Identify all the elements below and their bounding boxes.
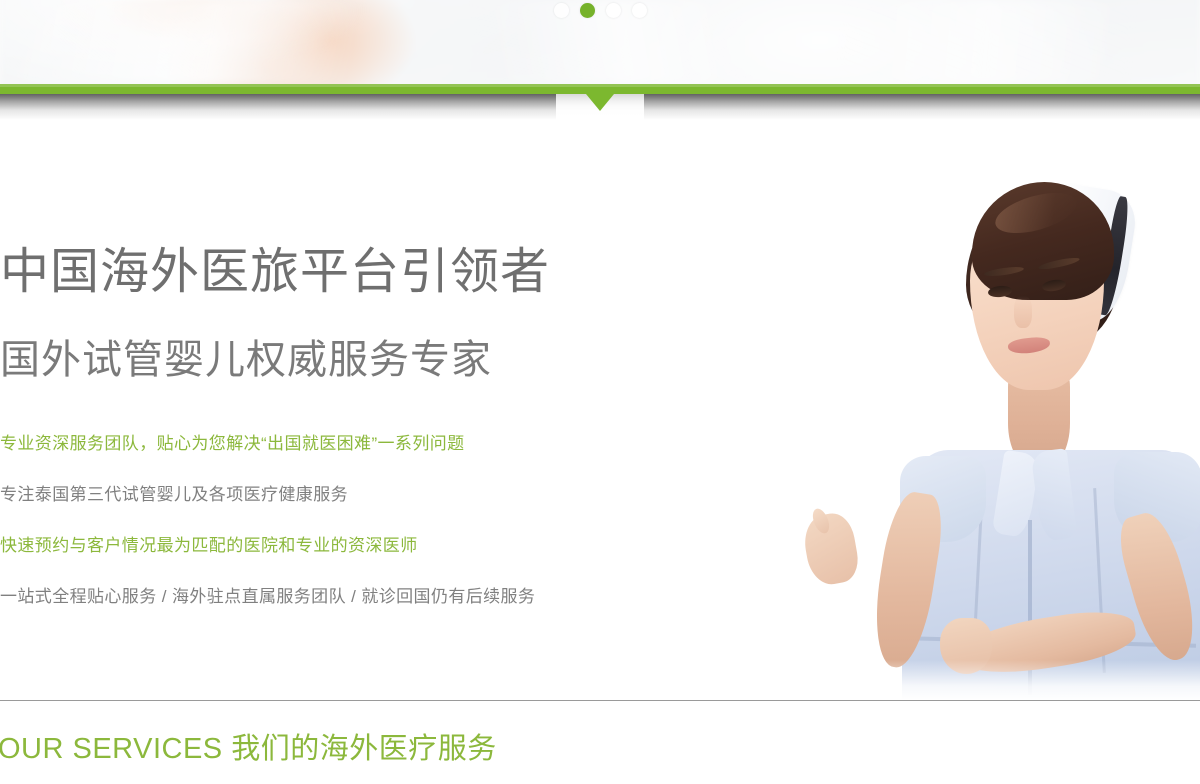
page-subtitle: 国外试管婴儿权威服务专家 bbox=[0, 340, 492, 380]
section-divider bbox=[0, 700, 1200, 701]
nurse-photo bbox=[780, 120, 1200, 700]
hero-bullet-2: 专注泰国第三代试管婴儿及各项医疗健康服务 bbox=[0, 486, 760, 503]
hero-bullet-1: 专业资深服务团队，贴心为您解决“出国就医困难”一系列问题 bbox=[0, 435, 760, 452]
carousel-dot-2-active[interactable] bbox=[580, 3, 595, 18]
page-title: 中国海外医旅平台引领者 bbox=[0, 248, 550, 297]
carousel-dot-1[interactable] bbox=[554, 3, 569, 18]
carousel-dot-4[interactable] bbox=[632, 3, 647, 18]
nurse-nose bbox=[1014, 296, 1032, 328]
hero-bullet-list: 专业资深服务团队，贴心为您解决“出国就医困难”一系列问题 专注泰国第三代试管婴儿… bbox=[0, 435, 760, 639]
landing-page: 中国海外医旅平台引领者 国外试管婴儿权威服务专家 专业资深服务团队，贴心为您解决… bbox=[0, 0, 1200, 784]
hero-section: 中国海外医旅平台引领者 国外试管婴儿权威服务专家 专业资深服务团队，贴心为您解决… bbox=[0, 120, 1200, 700]
hero-bullet-3: 快速预约与客户情况最为匹配的医院和专业的资深医师 bbox=[0, 537, 760, 554]
carousel-dots[interactable] bbox=[0, 3, 1200, 18]
green-bar-highlight bbox=[0, 84, 1200, 87]
services-section-title: OUR SERVICES 我们的海外医疗服务 bbox=[0, 735, 497, 764]
carousel-dot-3[interactable] bbox=[606, 3, 621, 18]
green-accent-bar bbox=[0, 84, 1200, 94]
hero-bullet-4: 一站式全程贴心服务 / 海外驻点直属服务团队 / 就诊回国仍有后续服务 bbox=[0, 588, 760, 605]
nurse-photo-fade bbox=[780, 660, 1200, 700]
scroll-down-arrow-icon[interactable] bbox=[586, 94, 614, 111]
